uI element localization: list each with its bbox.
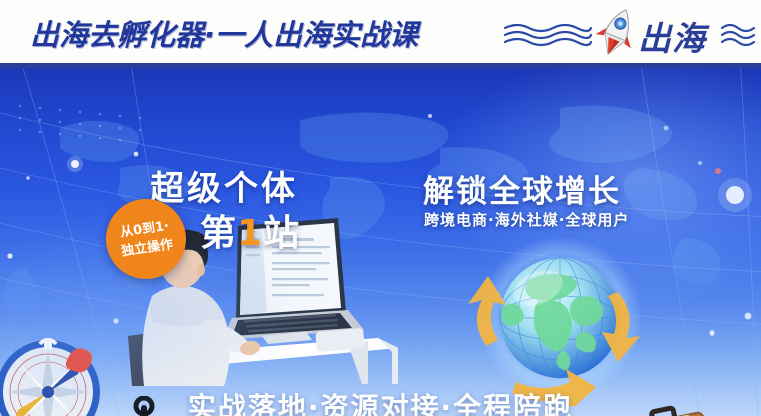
red-flag-icon (62, 343, 98, 373)
poster-page: 出海去孵化器·一人出海实战课 (0, 0, 761, 416)
hero-left-subheadline: 第1站 (200, 204, 300, 256)
hero-stage: 超级个体 第1站 从0到1· 独立操作 解锁全球增长 跨境电商·海外社媒·全球用… (0, 68, 761, 416)
logo-text: 出海 (638, 12, 706, 60)
header-title: 出海去孵化器·一人出海实战课 (30, 12, 418, 54)
station-prefix: 第 (200, 213, 237, 254)
station-suffix: 站 (263, 213, 300, 254)
page-header: 出海去孵化器·一人出海实战课 (0, 0, 761, 63)
hero-right-headline: 解锁全球增长 (423, 166, 621, 211)
hero-right-subtitle: 跨境电商·海外社媒·全球用户 (424, 209, 629, 230)
hero-left-headline: 超级个体 (150, 161, 298, 210)
rocket-icon (595, 6, 639, 58)
globe-icon (442, 236, 678, 406)
station-number: 1 (237, 213, 263, 254)
wave-lines-icon (503, 22, 593, 48)
wave-lines-right-icon (721, 22, 755, 48)
hero-bottom-line-1: 实战落地·资源对接·全程陪跑 (0, 386, 761, 416)
brand-logo[interactable]: 出海 (503, 4, 753, 60)
